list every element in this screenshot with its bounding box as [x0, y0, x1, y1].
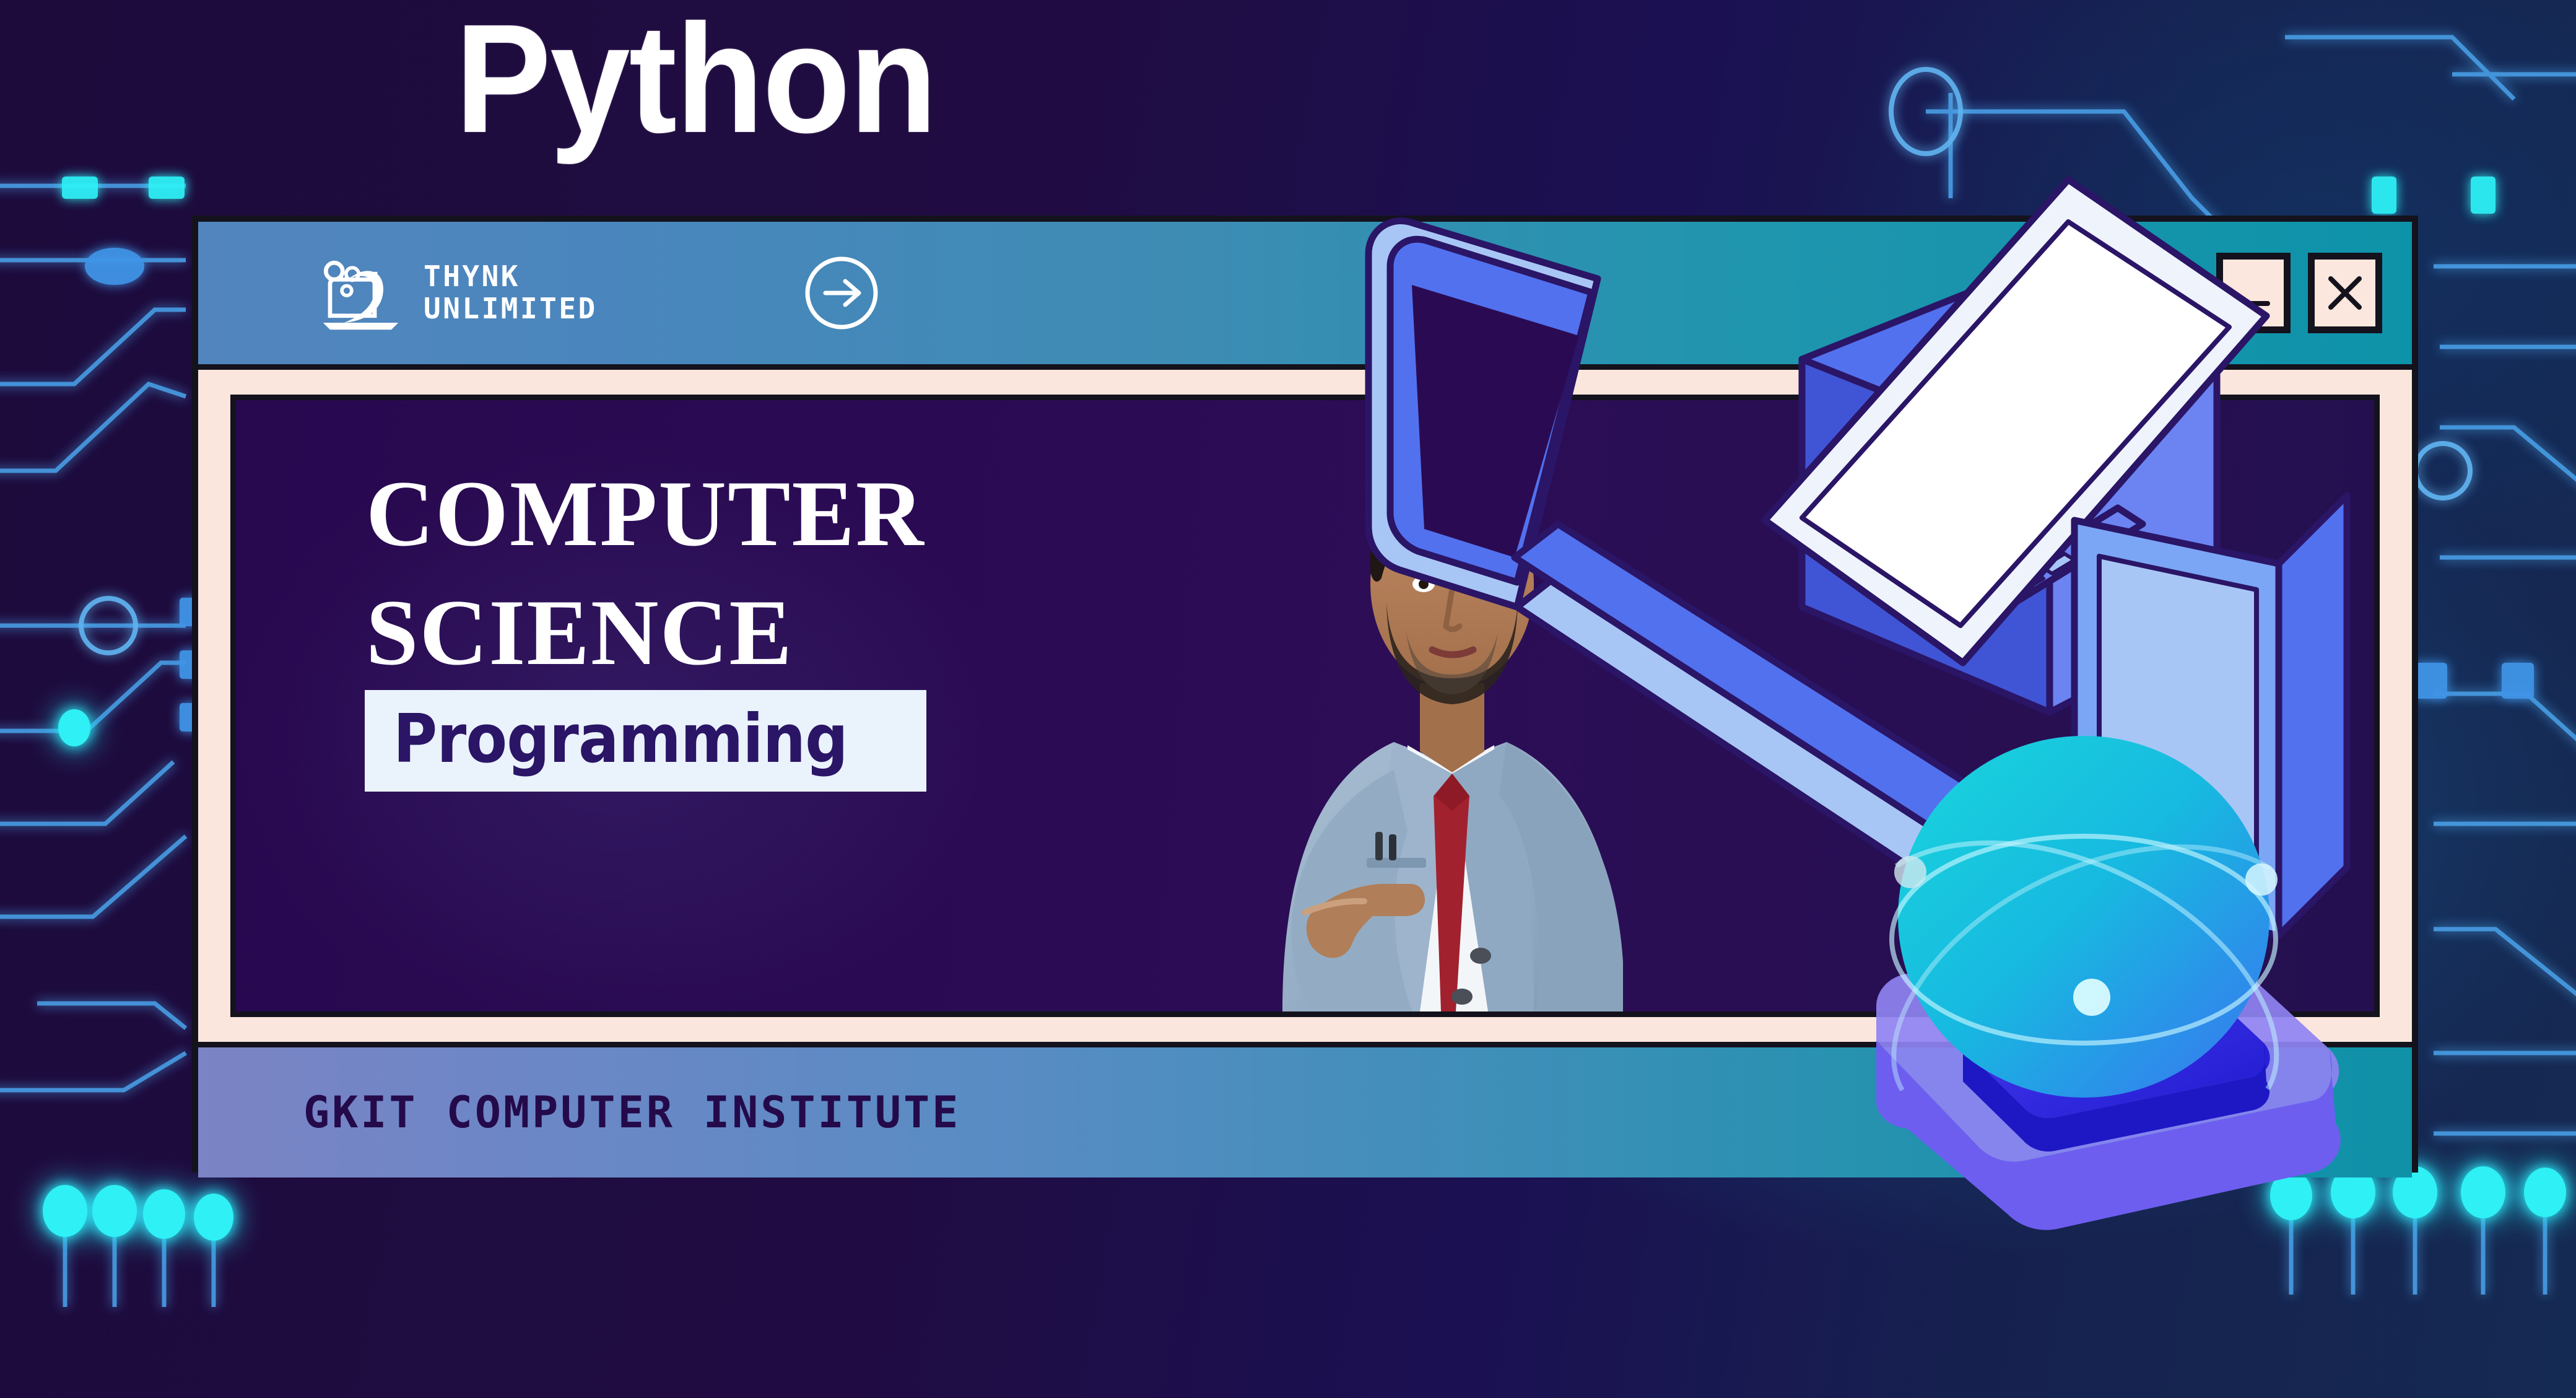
brand-line-2: UNLIMITED	[424, 292, 598, 325]
institute-name: GKIT COMPUTER INSTITUTE	[303, 1087, 960, 1138]
course-headline: COMPUTER SCIENCE	[366, 455, 925, 692]
page-title: Python	[455, 0, 936, 162]
brand-line-1: THYNK	[424, 260, 520, 293]
minimize-button[interactable]	[2216, 253, 2291, 333]
programming-badge-label: Programming	[393, 706, 848, 773]
instructor-photo	[1190, 395, 1710, 1011]
brand-logo: THYNK UNLIMITED	[319, 256, 598, 330]
app-window: THYNK UNLIMITED	[192, 216, 2418, 1173]
window-titlebar: THYNK UNLIMITED	[198, 222, 2412, 370]
close-button[interactable]	[2308, 253, 2382, 333]
poster-canvas: Python THYNK U	[0, 0, 2576, 1398]
arrow-right-circle-icon[interactable]	[802, 253, 881, 333]
programming-badge: Programming	[365, 690, 926, 792]
close-x-icon	[2322, 270, 2368, 316]
window-body: COMPUTER SCIENCE Programming	[198, 370, 2412, 1042]
brand-name: THYNK UNLIMITED	[424, 261, 598, 325]
laptop-gears-icon	[319, 256, 402, 330]
headline-line-1: COMPUTER	[366, 455, 925, 574]
content-canvas: COMPUTER SCIENCE Programming	[230, 395, 2380, 1017]
window-footer: GKIT COMPUTER INSTITUTE	[198, 1042, 2412, 1177]
window-controls	[2216, 253, 2382, 333]
headline-line-2: SCIENCE	[366, 574, 925, 692]
